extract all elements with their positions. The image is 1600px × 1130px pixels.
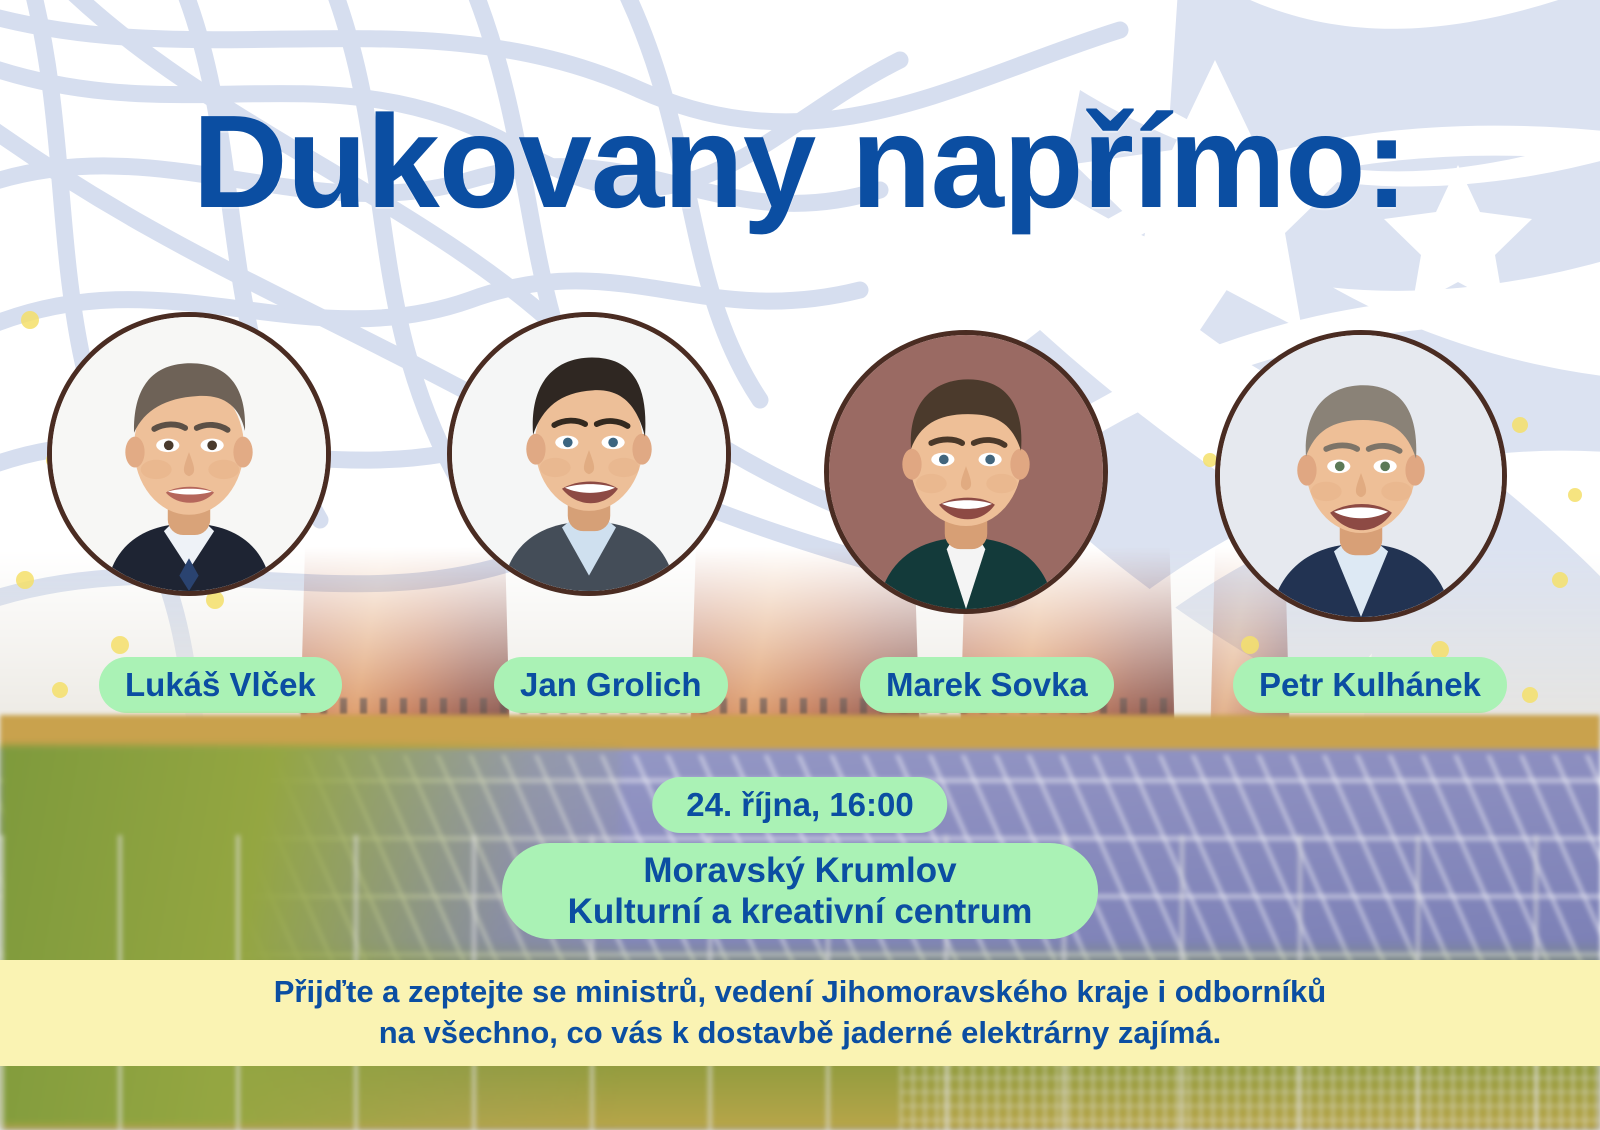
- portrait-photo-marek-sovka: [829, 335, 1103, 609]
- banner-line-1: Přijďte a zeptejte se ministrů, vedení J…: [274, 972, 1327, 1013]
- speaker-name-badge: Marek Sovka: [860, 657, 1114, 713]
- avatar: [47, 312, 331, 596]
- speaker-name-badge: Jan Grolich: [494, 657, 728, 713]
- avatar: [447, 312, 731, 596]
- speaker-name-badge: Petr Kulhánek: [1233, 657, 1507, 713]
- speaker-name-badge: Lukáš Vlček: [99, 657, 342, 713]
- avatar: [824, 330, 1108, 614]
- event-venue-badge: Moravský Krumlov Kulturní a kreativní ce…: [502, 843, 1098, 939]
- venue-place: Kulturní a kreativní centrum: [568, 891, 1033, 932]
- avatar: [1215, 330, 1507, 622]
- page-title: Dukovany napřímo:: [0, 96, 1600, 228]
- banner-line-2: na všechno, co vás k dostavbě jaderné el…: [379, 1013, 1222, 1054]
- call-to-action-banner: Přijďte a zeptejte se ministrů, vedení J…: [0, 960, 1600, 1066]
- event-date-badge: 24. října, 16:00: [652, 777, 947, 833]
- portrait-photo-lukas-vlcek: [52, 317, 326, 591]
- portrait-photo-petr-kulhanek: [1220, 335, 1502, 617]
- event-poster: Dukovany napřímo:: [0, 0, 1600, 1130]
- portrait-photo-jan-grolich: [452, 317, 726, 591]
- venue-city: Moravský Krumlov: [643, 850, 956, 891]
